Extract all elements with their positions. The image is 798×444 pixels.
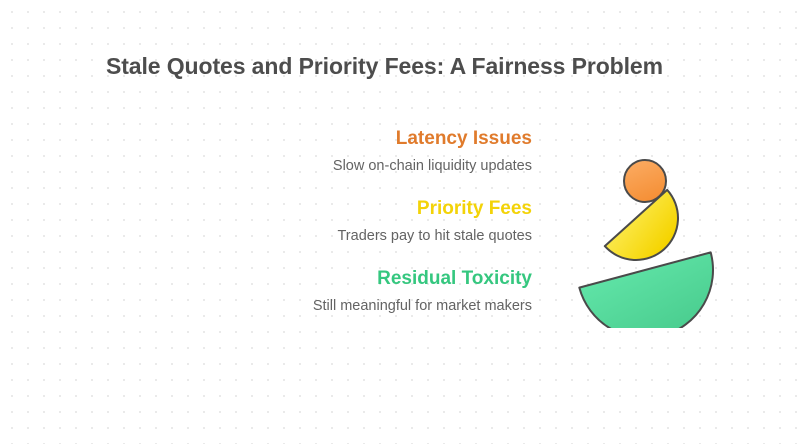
bullet-heading-residual-toxicity: Residual Toxicity <box>232 266 532 292</box>
list-item: Priority Fees Traders pay to hit stale q… <box>232 196 532 248</box>
orange-circle <box>624 160 666 202</box>
bullet-description-priority-fees: Traders pay to hit stale quotes <box>232 224 532 248</box>
slide-canvas: Stale Quotes and Priority Fees: A Fairne… <box>0 0 798 444</box>
page-title: Stale Quotes and Priority Fees: A Fairne… <box>106 53 726 80</box>
list-item: Residual Toxicity Still meaningful for m… <box>232 266 532 318</box>
bullet-heading-priority-fees: Priority Fees <box>232 196 532 222</box>
list-item: Latency Issues Slow on-chain liquidity u… <box>232 126 532 178</box>
bullet-list: Latency Issues Slow on-chain liquidity u… <box>232 126 532 318</box>
stacked-shapes-illustration <box>560 148 730 328</box>
accent-dot-column <box>42 0 47 444</box>
bullet-description-latency-issues: Slow on-chain liquidity updates <box>232 154 532 178</box>
bullet-heading-latency-issues: Latency Issues <box>232 126 532 152</box>
bullet-description-residual-toxicity: Still meaningful for market makers <box>232 294 532 318</box>
green-half-disc <box>579 252 728 328</box>
